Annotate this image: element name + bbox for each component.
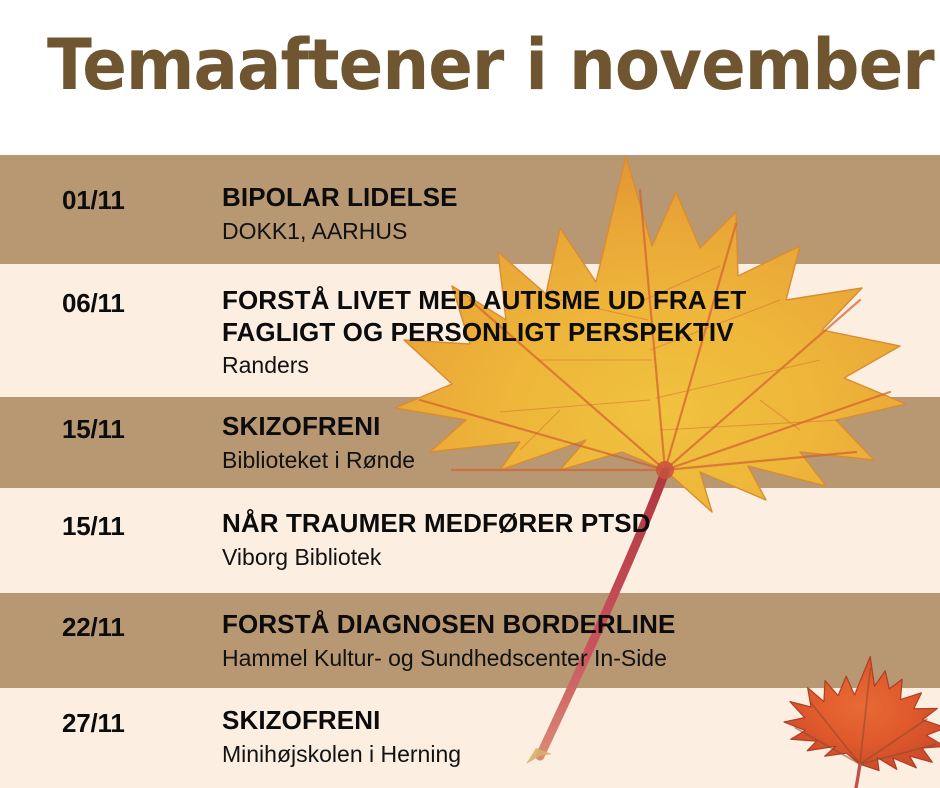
event-title: BIPOLAR LIDELSE — [222, 182, 930, 214]
event-row[interactable]: 06/11 FORSTÅ LIVET MED AUTISME UD FRA ET… — [0, 264, 940, 397]
event-info: NÅR TRAUMER MEDFØRER PTSD Viborg Bibliot… — [222, 508, 930, 571]
event-info: BIPOLAR LIDELSE DOKK1, AARHUS — [222, 182, 930, 245]
event-venue: Hammel Kultur- og Sundhedscenter In-Side — [222, 644, 930, 673]
event-venue: Viborg Bibliotek — [222, 543, 930, 572]
event-info: SKIZOFRENI Biblioteket i Rønde — [222, 411, 930, 474]
event-title: SKIZOFRENI — [222, 705, 930, 737]
event-title: FORSTÅ LIVET MED AUTISME UD FRA ET FAGLI… — [222, 285, 930, 348]
event-venue: Randers — [222, 351, 930, 380]
event-date: 15/11 — [62, 511, 125, 542]
event-date: 15/11 — [62, 414, 125, 445]
event-row[interactable]: 15/11 SKIZOFRENI Biblioteket i Rønde — [0, 397, 940, 488]
event-row[interactable]: 27/11 SKIZOFRENI Minihøjskolen i Herning — [0, 688, 940, 788]
event-title: NÅR TRAUMER MEDFØRER PTSD — [222, 508, 930, 540]
poster-canvas: 01/11 BIPOLAR LIDELSE DOKK1, AARHUS 06/1… — [0, 0, 940, 788]
event-row[interactable]: 01/11 BIPOLAR LIDELSE DOKK1, AARHUS — [0, 155, 940, 264]
event-info: FORSTÅ DIAGNOSEN BORDERLINE Hammel Kultu… — [222, 609, 930, 672]
event-info: FORSTÅ LIVET MED AUTISME UD FRA ET FAGLI… — [222, 285, 930, 380]
event-info: SKIZOFRENI Minihøjskolen i Herning — [222, 705, 930, 768]
event-date: 22/11 — [62, 612, 125, 643]
event-row[interactable]: 22/11 FORSTÅ DIAGNOSEN BORDERLINE Hammel… — [0, 593, 940, 688]
event-row[interactable]: 15/11 NÅR TRAUMER MEDFØRER PTSD Viborg B… — [0, 488, 940, 593]
title-area: Temaaftener i november — [0, 0, 940, 155]
event-date: 06/11 — [62, 288, 125, 319]
event-venue: DOKK1, AARHUS — [222, 217, 930, 246]
event-venue: Biblioteket i Rønde — [222, 446, 930, 475]
event-title: FORSTÅ DIAGNOSEN BORDERLINE — [222, 609, 930, 641]
event-date: 27/11 — [62, 708, 125, 739]
event-title: SKIZOFRENI — [222, 411, 930, 443]
event-date: 01/11 — [62, 185, 125, 216]
page-title: Temaaftener i november — [47, 30, 934, 100]
event-venue: Minihøjskolen i Herning — [222, 740, 930, 769]
